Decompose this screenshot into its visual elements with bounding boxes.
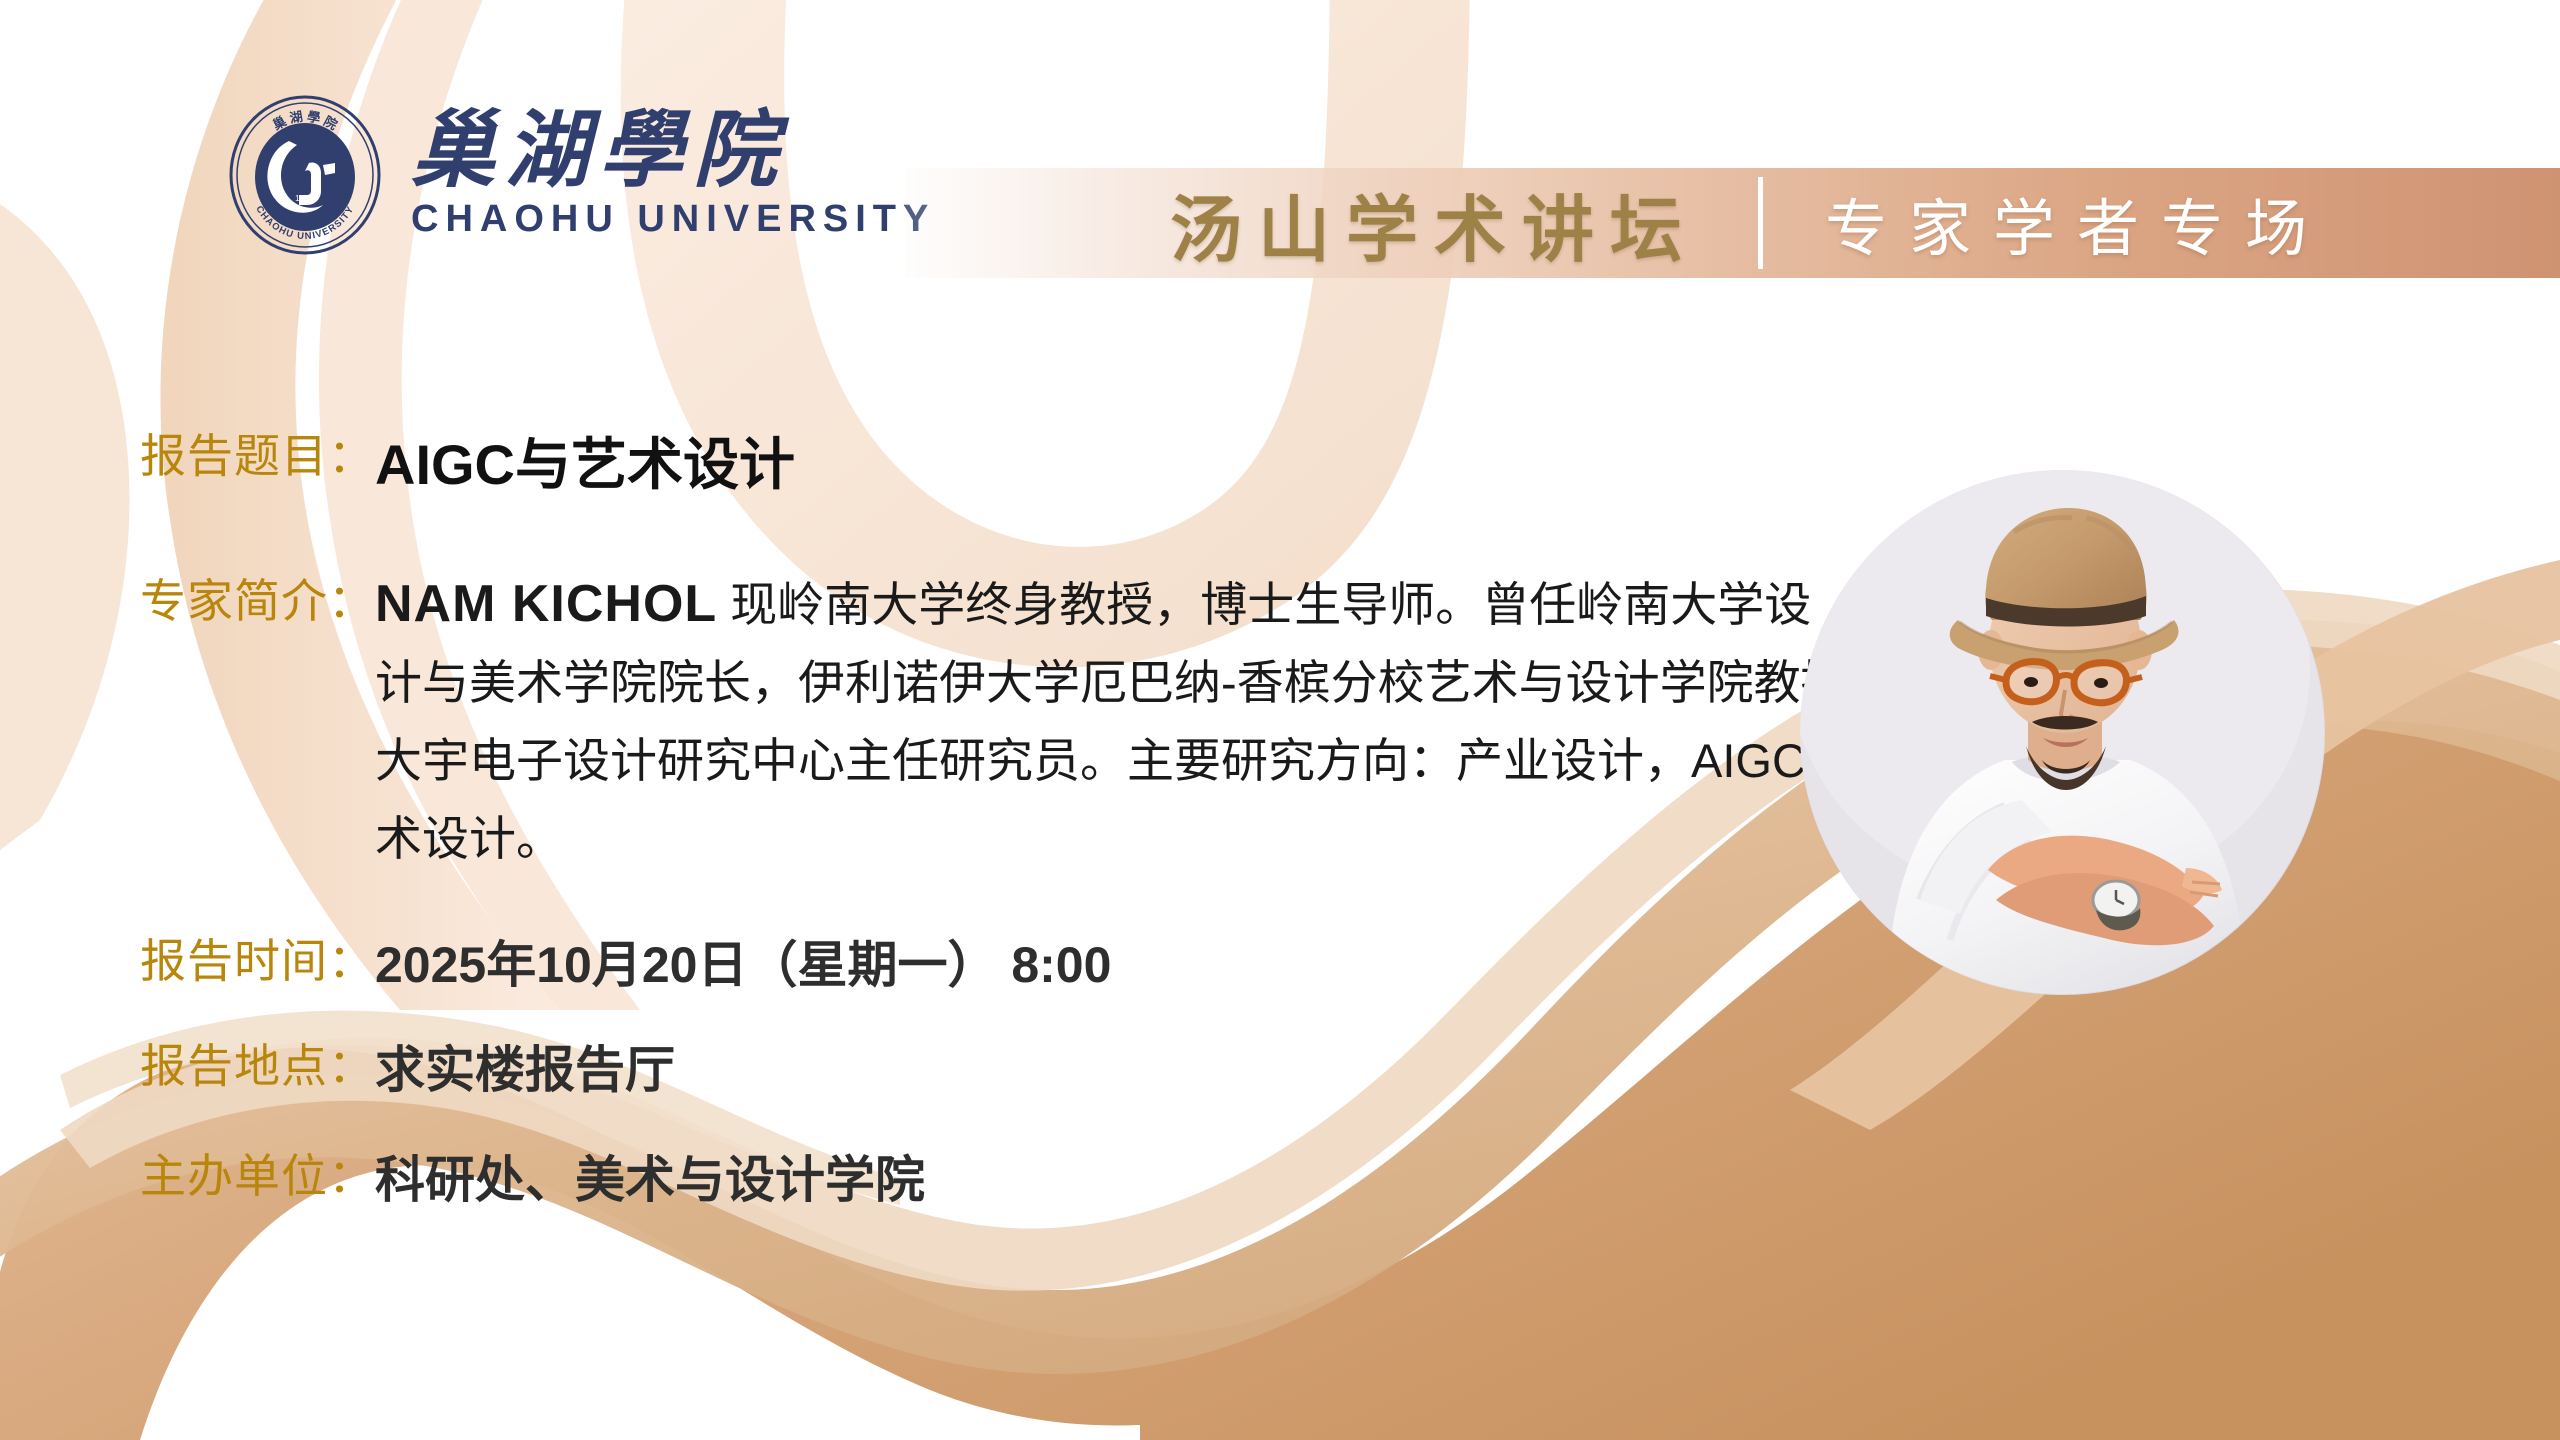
lecture-host-row: 主办单位： 科研处、美术与设计学院 xyxy=(140,1140,925,1212)
speaker-name: NAM KICHOL xyxy=(375,575,717,633)
lecture-place-value: 求实楼报告厅 xyxy=(375,1030,675,1102)
bio-line-1: NAM KICHOL 现岭南大学终身教授，博士生导师。曾任岭南大学设 xyxy=(375,565,1770,644)
poster-root: 1977 巢 湖 學 院 CHAOHU UNIVERSITY 巢湖學院 CHAO… xyxy=(0,0,2560,1440)
speaker-bio-label: 专家简介： xyxy=(140,565,375,631)
lecture-time-row: 报告时间： 2025年10月20日（星期一） 8:00 xyxy=(140,925,1111,997)
bio-line-4: 术设计。 xyxy=(375,800,1770,878)
lecture-title-label: 报告题目： xyxy=(140,420,375,486)
bio-line-2: 计与美术学院院长，伊利诺伊大学厄巴纳-香槟分校艺术与设计学院教授， xyxy=(375,644,1770,722)
lecture-time-label: 报告时间： xyxy=(140,925,375,991)
bio-line-3: 大宇电子设计研究中心主任研究员。主要研究方向：产业设计，AIGC与艺 xyxy=(375,722,1770,800)
lecture-title-row: 报告题目： AIGC与艺术设计 xyxy=(140,420,795,501)
bio-line-1-text: 现岭南大学终身教授，博士生导师。曾任岭南大学设 xyxy=(717,578,1811,631)
speaker-portrait xyxy=(1800,470,2325,995)
lecture-time-value: 2025年10月20日（星期一） 8:00 xyxy=(375,925,1111,997)
speaker-bio-row: 专家简介： NAM KICHOL 现岭南大学终身教授，博士生导师。曾任岭南大学设… xyxy=(140,565,1930,878)
speaker-bio-body: NAM KICHOL 现岭南大学终身教授，博士生导师。曾任岭南大学设 计与美术学… xyxy=(375,565,1770,878)
lecture-title-value: AIGC与艺术设计 xyxy=(375,420,795,501)
lecture-place-row: 报告地点： 求实楼报告厅 xyxy=(140,1030,675,1102)
lecture-host-label: 主办单位： xyxy=(140,1140,375,1206)
lecture-host-value: 科研处、美术与设计学院 xyxy=(375,1140,925,1212)
lecture-place-label: 报告地点： xyxy=(140,1030,375,1096)
